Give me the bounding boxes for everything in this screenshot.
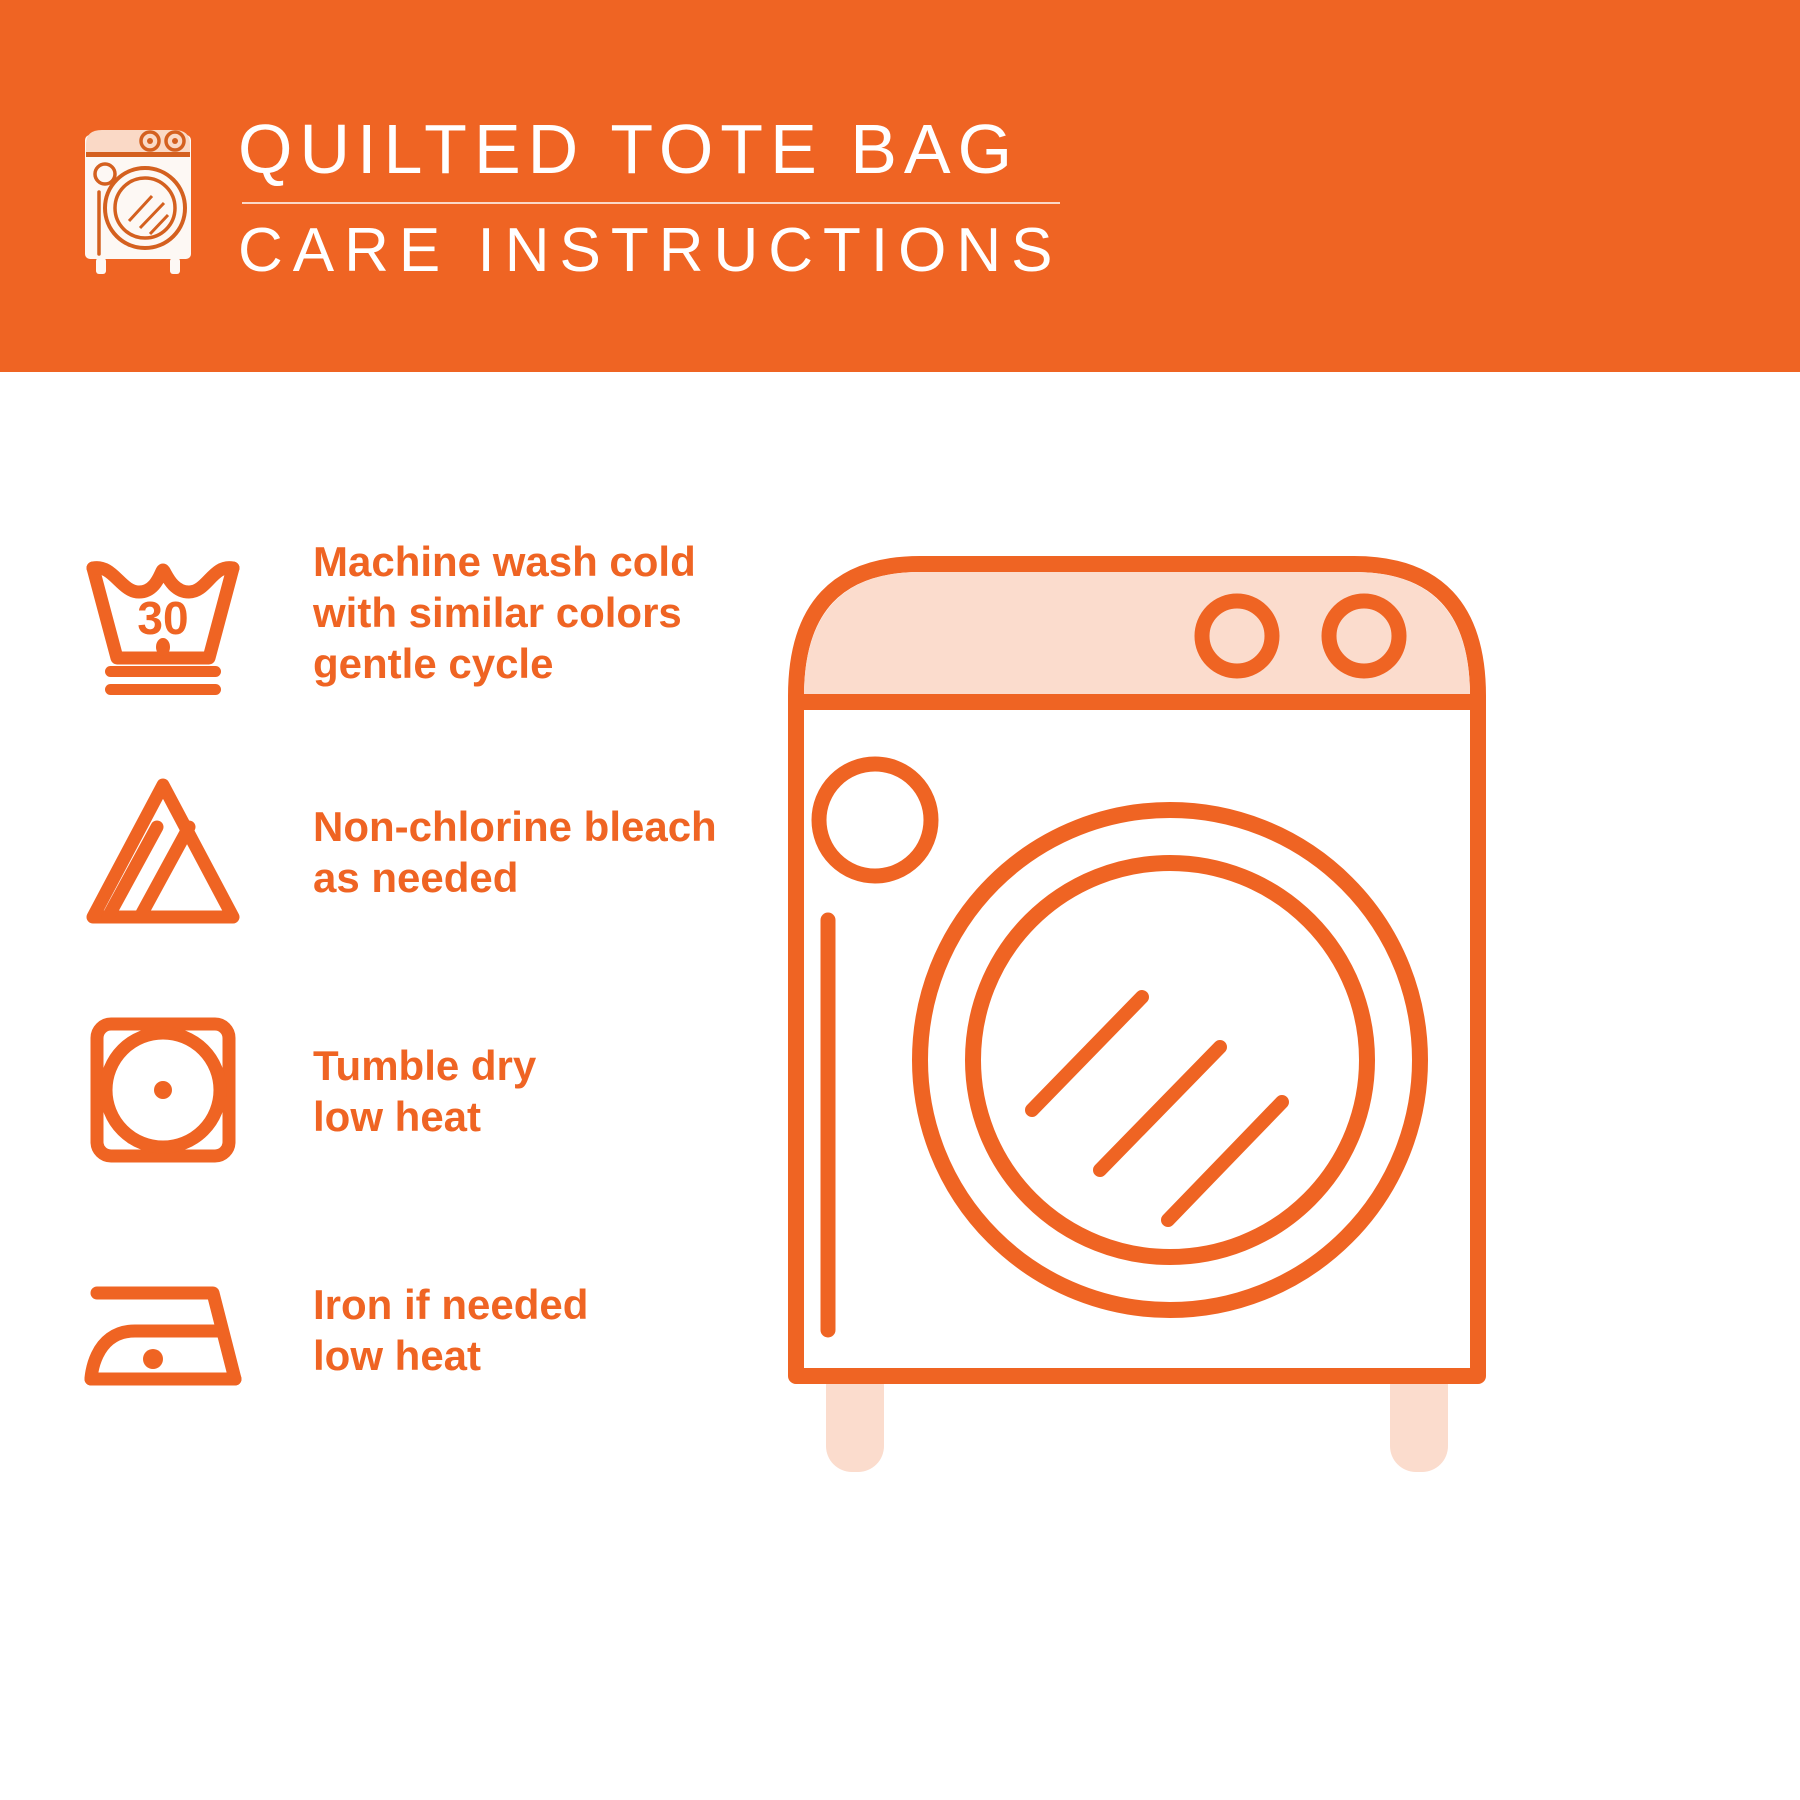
care-row-iron: Iron if needed low heat xyxy=(70,1242,770,1417)
care-label-machine-wash: Machine wash cold with similar colors ge… xyxy=(313,536,696,689)
page-title: QUILTED TOTE BAG xyxy=(238,108,1238,190)
bleach-triangle-icon xyxy=(70,764,255,939)
header-text-block: QUILTED TOTE BAG CARE INSTRUCTIONS xyxy=(238,108,1238,288)
wash-basin-30-icon: 30 xyxy=(70,525,255,700)
care-label-bleach: Non-chlorine bleach as needed xyxy=(313,801,717,903)
page-subtitle: CARE INSTRUCTIONS xyxy=(238,214,1238,288)
washing-machine-icon xyxy=(72,108,212,278)
care-row-machine-wash: 30 Machine wash cold with similar colors… xyxy=(70,525,770,700)
tumble-dry-icon xyxy=(70,1003,255,1178)
care-instruction-list: 30 Machine wash cold with similar colors… xyxy=(70,525,770,1481)
wash-temperature-label: 30 xyxy=(137,592,188,644)
large-washing-machine-illustration xyxy=(770,520,1530,1480)
care-label-iron: Iron if needed low heat xyxy=(313,1279,588,1381)
iron-icon xyxy=(70,1242,255,1417)
title-divider xyxy=(242,202,1060,204)
machine-control-panel xyxy=(804,572,1470,702)
header-banner: QUILTED TOTE BAG CARE INSTRUCTIONS xyxy=(0,0,1800,372)
care-row-tumble-dry: Tumble dry low heat xyxy=(70,1003,770,1178)
care-row-bleach: Non-chlorine bleach as needed xyxy=(70,764,770,939)
care-label-tumble-dry: Tumble dry low heat xyxy=(313,1040,536,1142)
